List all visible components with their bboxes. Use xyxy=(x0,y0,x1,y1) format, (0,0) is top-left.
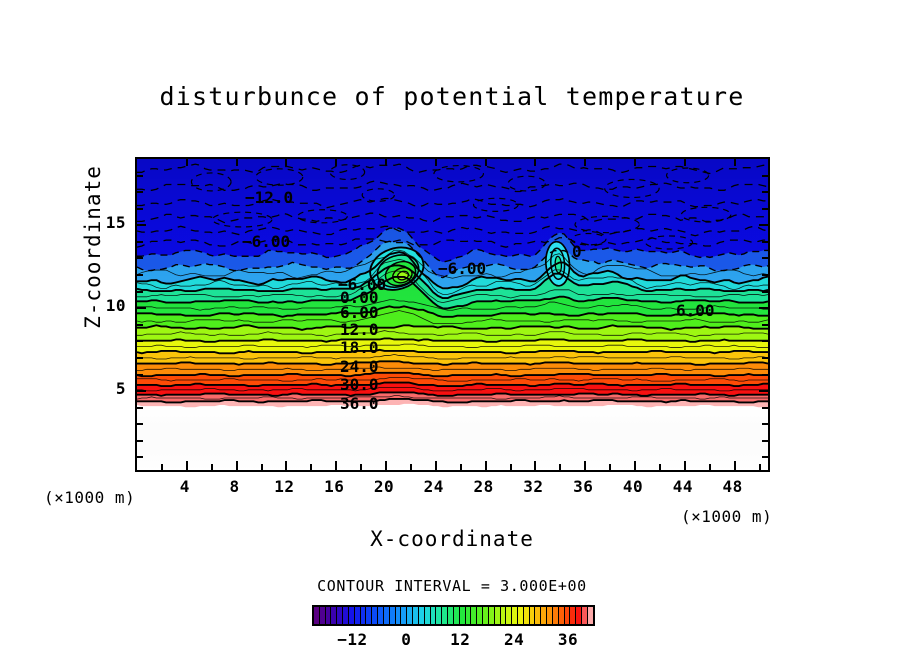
y-minor-tick xyxy=(137,423,143,425)
x-minor-tick xyxy=(510,464,512,470)
y-tick-label: 10 xyxy=(96,296,126,315)
y-minor-tick-right xyxy=(762,241,768,243)
y-minor-tick xyxy=(137,241,143,243)
x-minor-tick xyxy=(261,464,263,470)
x-tick xyxy=(335,461,337,470)
contour-label: 0 xyxy=(572,242,582,261)
contour-label: −6.00 xyxy=(438,259,486,278)
x-axis-title: X-coordinate xyxy=(0,527,904,551)
x-tick-label: 12 xyxy=(261,477,307,496)
y-tick-right xyxy=(759,307,768,309)
contour-field xyxy=(137,159,768,470)
x-minor-tick xyxy=(310,464,312,470)
x-tick-top xyxy=(734,159,736,166)
contour-label: 30.0 xyxy=(340,375,379,394)
y-minor-tick-right xyxy=(762,440,768,442)
x-tick xyxy=(684,461,686,470)
x-tick-top xyxy=(584,159,586,166)
y-minor-tick xyxy=(137,175,143,177)
y-minor-tick-right xyxy=(762,340,768,342)
x-tick-top xyxy=(684,159,686,166)
x-tick xyxy=(285,461,287,470)
y-minor-tick-right xyxy=(762,208,768,210)
y-minor-tick-right xyxy=(762,407,768,409)
y-minor-tick-right xyxy=(762,456,768,458)
x-tick xyxy=(485,461,487,470)
x-tick-top xyxy=(634,159,636,166)
y-tick-label: 5 xyxy=(96,379,126,398)
colorbar-tick-label: 36 xyxy=(546,630,590,649)
y-minor-tick-right xyxy=(762,274,768,276)
x-tick xyxy=(186,461,188,470)
x-tick-label: 4 xyxy=(162,477,208,496)
x-tick-top xyxy=(335,159,337,166)
y-minor-tick-right xyxy=(762,324,768,326)
y-minor-tick xyxy=(137,374,143,376)
y-minor-tick xyxy=(137,208,143,210)
colorbar xyxy=(312,605,595,626)
y-minor-tick xyxy=(137,324,143,326)
x-tick-label: 20 xyxy=(361,477,407,496)
colorbar-tick-label: 0 xyxy=(384,630,428,649)
x-tick-top xyxy=(285,159,287,166)
x-tick xyxy=(534,461,536,470)
x-minor-tick xyxy=(360,464,362,470)
x-tick xyxy=(634,461,636,470)
colorbar-tick-label: 24 xyxy=(492,630,536,649)
y-minor-tick xyxy=(137,456,143,458)
colorbar-swatch xyxy=(588,607,593,624)
y-minor-tick xyxy=(137,340,143,342)
x-minor-tick xyxy=(410,464,412,470)
y-minor-tick xyxy=(137,191,143,193)
y-axis-title: Z-coordinate xyxy=(81,147,105,347)
contour-label: −6.00 xyxy=(242,232,290,251)
x-minor-tick xyxy=(559,464,561,470)
contour-label: 36.0 xyxy=(340,394,379,413)
x-minor-tick xyxy=(211,464,213,470)
contour-plot xyxy=(135,157,770,472)
x-tick-label: 40 xyxy=(610,477,656,496)
x-minor-tick xyxy=(709,464,711,470)
y-tick-label: 15 xyxy=(96,213,126,232)
x-tick xyxy=(584,461,586,470)
x-tick-top xyxy=(485,159,487,166)
x-tick xyxy=(236,461,238,470)
x-tick xyxy=(734,461,736,470)
y-minor-tick-right xyxy=(762,257,768,259)
x-tick-top xyxy=(385,159,387,166)
contour-label: 12.0 xyxy=(340,320,379,339)
contour-label: 6.00 xyxy=(676,301,715,320)
x-tick-label: 8 xyxy=(212,477,258,496)
x-tick-label: 28 xyxy=(461,477,507,496)
x-tick-top xyxy=(435,159,437,166)
x-tick-label: 16 xyxy=(311,477,357,496)
contour-label: −12.0 xyxy=(245,188,293,207)
y-minor-tick xyxy=(137,257,143,259)
contour-interval-caption: CONTOUR INTERVAL = 3.000E+00 xyxy=(0,577,904,595)
y-minor-tick-right xyxy=(762,374,768,376)
y-tick-right xyxy=(759,390,768,392)
x-minor-tick xyxy=(460,464,462,470)
y-minor-tick-right xyxy=(762,291,768,293)
page-title: disturbunce of potential temperature xyxy=(0,82,904,111)
contour-label: 18.0 xyxy=(340,338,379,357)
y-minor-tick-right xyxy=(762,175,768,177)
y-axis-unit: (×1000 m) xyxy=(44,488,135,507)
colorbar-tick-label: 12 xyxy=(438,630,482,649)
x-tick-label: 24 xyxy=(411,477,457,496)
x-minor-tick xyxy=(759,464,761,470)
y-minor-tick xyxy=(137,440,143,442)
contour-label: 24.0 xyxy=(340,357,379,376)
x-tick-label: 48 xyxy=(710,477,756,496)
y-minor-tick-right xyxy=(762,423,768,425)
y-minor-tick xyxy=(137,291,143,293)
x-minor-tick xyxy=(659,464,661,470)
y-minor-tick-right xyxy=(762,357,768,359)
y-tick xyxy=(137,390,146,392)
x-tick-label: 44 xyxy=(660,477,706,496)
y-tick-right xyxy=(759,224,768,226)
x-minor-tick xyxy=(161,464,163,470)
x-tick-top xyxy=(186,159,188,166)
y-minor-tick xyxy=(137,274,143,276)
x-tick xyxy=(385,461,387,470)
x-axis-unit: (×1000 m) xyxy=(681,507,772,526)
x-tick-top xyxy=(236,159,238,166)
x-tick-label: 36 xyxy=(560,477,606,496)
y-minor-tick xyxy=(137,357,143,359)
x-minor-tick xyxy=(609,464,611,470)
y-tick xyxy=(137,224,146,226)
x-tick xyxy=(435,461,437,470)
x-tick-top xyxy=(534,159,536,166)
y-tick xyxy=(137,307,146,309)
colorbar-tick-label: −12 xyxy=(330,630,374,649)
y-minor-tick-right xyxy=(762,191,768,193)
x-tick-label: 32 xyxy=(510,477,556,496)
y-minor-tick xyxy=(137,407,143,409)
